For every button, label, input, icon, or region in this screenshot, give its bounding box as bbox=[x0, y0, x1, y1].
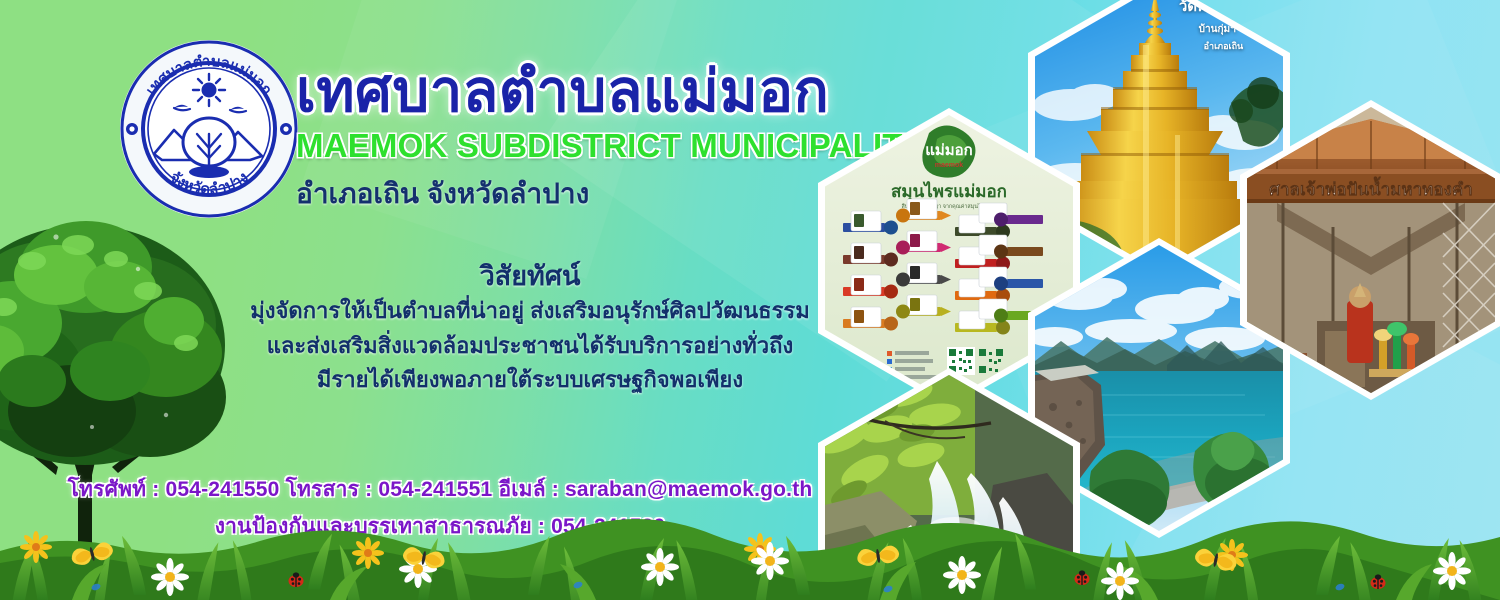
municipality-banner: เทศบาลตำบลแม่มอก จังหวัดลำปาง เทศบาลตำบล… bbox=[0, 0, 1500, 600]
grass-flower-border bbox=[0, 495, 1500, 600]
vision-line-1: มุ่งจัดการให้เป็นตำบลที่น่าอยู่ ส่งเสริม… bbox=[230, 294, 830, 328]
vision-line-2: และส่งเสริมสิ่งแวดล้อมประชาชนได้รับบริกา… bbox=[230, 329, 830, 363]
shrine-sign-text: ศาลเจ้าพ่อปันน้ำมหาทองคำ bbox=[1269, 176, 1473, 199]
vision-heading: วิสัยทัศน์ bbox=[230, 258, 830, 294]
vision-statement: วิสัยทัศน์ มุ่งจัดการให้เป็นตำบลที่น่าอย… bbox=[230, 258, 830, 397]
municipality-seal-logo: เทศบาลตำบลแม่มอก จังหวัดลำปาง bbox=[118, 38, 300, 220]
vision-line-3: มีรายได้เพียงพอภายใต้ระบบเศรษฐกิจพอเพียง bbox=[230, 363, 830, 397]
hexagon-photo-cluster: วัดพระธาตุ บ้านกุ่มฯ อำเภอเถิน แม่ม bbox=[800, 0, 1500, 580]
poster-brand-sub: maemok bbox=[935, 162, 964, 169]
poster-brand: แม่มอก bbox=[925, 142, 973, 159]
